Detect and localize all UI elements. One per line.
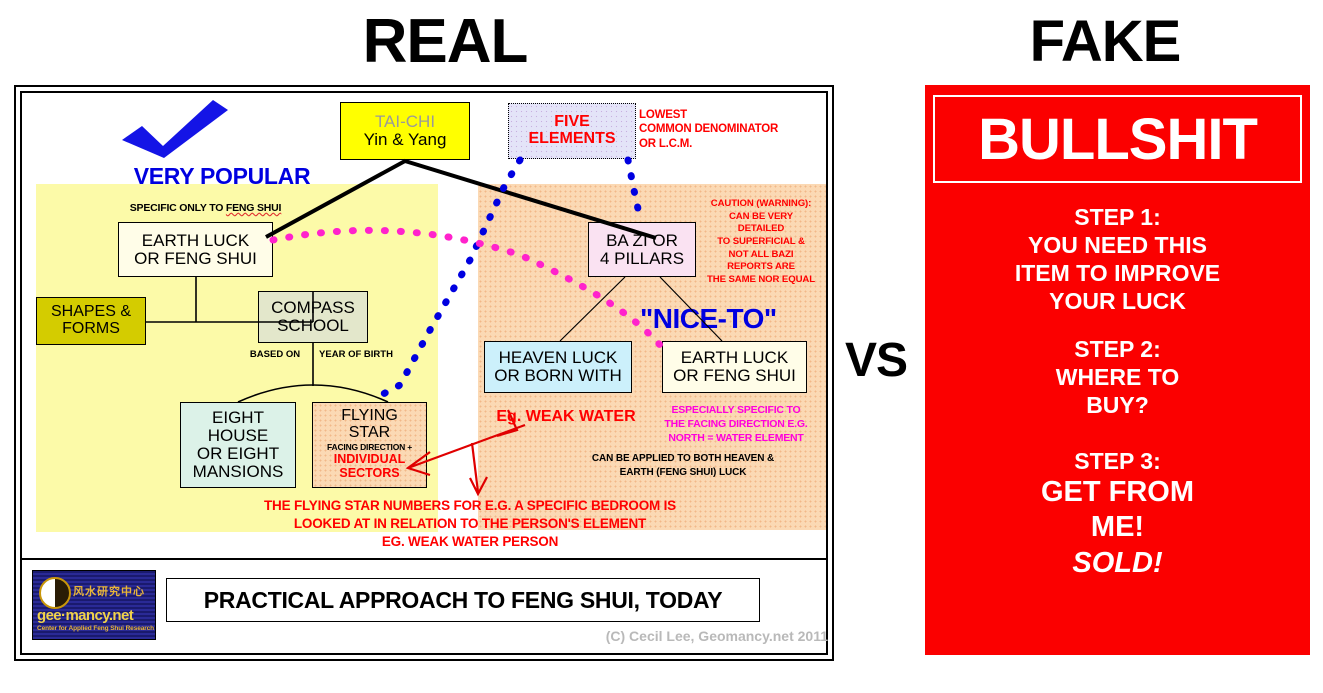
caution-line-0: CAUTION (WARNING): bbox=[700, 198, 822, 211]
bazi-line1: BA ZI OR bbox=[606, 232, 678, 250]
eight-house-line1: EIGHT bbox=[212, 409, 264, 427]
earth-luck-right-line1: EARTH LUCK bbox=[681, 349, 788, 367]
nice-to-label: "NICE-TO" bbox=[640, 303, 830, 335]
fsn-line-2: EG. WEAK WATER PERSON bbox=[120, 533, 820, 551]
weak-water-label: Eg. WEAK WATER bbox=[486, 408, 646, 426]
box-ba-zi: BA ZI OR 4 PILLARS bbox=[588, 222, 696, 277]
applied-line-0: CAN BE APPLIED TO BOTH HEAVEN & bbox=[554, 452, 812, 466]
poster-root: REAL FAKE bbox=[0, 0, 1323, 693]
plus-icon: + bbox=[407, 442, 412, 452]
especially-specific-note: ESPECIALLY SPECIFIC TO THE FACING DIRECT… bbox=[661, 403, 811, 446]
box-flying-star: FLYING STAR FACING DIRECTION + INDIVIDUA… bbox=[312, 402, 427, 488]
eight-house-line4: MANSIONS bbox=[193, 463, 284, 481]
lcm-line-0: LOWEST bbox=[639, 108, 814, 122]
five-elements-line1: FIVE bbox=[554, 114, 590, 131]
earth-luck-left-line1: EARTH LUCK bbox=[142, 232, 249, 250]
caution-note: CAUTION (WARNING): CAN BE VERY DETAILED … bbox=[700, 198, 822, 287]
box-earth-luck-left: EARTH LUCK OR FENG SHUI bbox=[118, 222, 273, 277]
heaven-luck-line1: HEAVEN LUCK bbox=[499, 349, 618, 367]
lcm-line-2: OR L.C.M. bbox=[639, 137, 814, 151]
shapes-line2: FORMS bbox=[62, 321, 120, 338]
bazi-line2: 4 PILLARS bbox=[600, 250, 684, 268]
five-elements-line2: ELEMENTS bbox=[528, 131, 615, 148]
compass-line2: SCHOOL bbox=[277, 317, 349, 335]
specific-only-suffix: FENG SHUI bbox=[226, 202, 281, 214]
flying-star-line1: FLYING bbox=[341, 408, 398, 425]
box-heaven-luck: HEAVEN LUCK OR BORN WITH bbox=[484, 341, 632, 393]
eight-house-line2: HOUSE bbox=[208, 427, 268, 445]
shapes-line1: SHAPES & bbox=[51, 304, 131, 321]
check-icon bbox=[118, 98, 233, 160]
caution-line-3: TO SUPERFICIAL & bbox=[700, 236, 822, 249]
flying-star-red1: INDIVIDUAL bbox=[334, 453, 406, 467]
box-eight-house: EIGHT HOUSE OR EIGHT MANSIONS bbox=[180, 402, 296, 488]
flying-star-line2: STAR bbox=[349, 425, 390, 442]
specific-only-prefix: SPECIFIC ONLY TO bbox=[130, 202, 226, 214]
lcm-line-1: COMMON DENOMINATOR bbox=[639, 122, 814, 136]
esp-line-2: NORTH = WATER ELEMENT bbox=[661, 431, 811, 445]
flying-star-note: THE FLYING STAR NUMBERS FOR E.G. A SPECI… bbox=[120, 497, 820, 550]
tai-chi-line2: Yin & Yang bbox=[364, 131, 447, 149]
fsn-line-0: THE FLYING STAR NUMBERS FOR E.G. A SPECI… bbox=[120, 497, 820, 515]
caution-line-4: NOT ALL BAZI bbox=[700, 249, 822, 262]
applied-line-1: EARTH (FENG SHUI) LUCK bbox=[554, 466, 812, 480]
based-on-caption: BASED ON bbox=[240, 349, 310, 360]
year-of-birth-caption: YEAR OF BIRTH bbox=[312, 349, 400, 360]
box-five-elements: FIVE ELEMENTS bbox=[508, 103, 636, 159]
box-shapes-forms: SHAPES & FORMS bbox=[36, 297, 146, 345]
heaven-luck-line2: OR BORN WITH bbox=[494, 367, 622, 385]
vs-label: VS bbox=[836, 333, 916, 388]
tai-chi-line1: TAI-CHI bbox=[375, 113, 435, 131]
caution-line-6: THE SAME NOR EQUAL bbox=[700, 274, 822, 287]
specific-only-caption: SPECIFIC ONLY TO FENG SHUI bbox=[118, 202, 293, 214]
esp-line-0: ESPECIALLY SPECIFIC TO bbox=[661, 403, 811, 417]
very-popular-label: VERY POPULAR bbox=[112, 163, 332, 190]
box-compass-school: COMPASS SCHOOL bbox=[258, 291, 368, 343]
earth-luck-right-line2: OR FENG SHUI bbox=[673, 367, 796, 385]
caution-line-5: REPORTS ARE bbox=[700, 261, 822, 274]
box-tai-chi: TAI-CHI Yin & Yang bbox=[340, 102, 470, 160]
eight-house-line3: OR EIGHT bbox=[197, 445, 279, 463]
box-earth-luck-right: EARTH LUCK OR FENG SHUI bbox=[662, 341, 807, 393]
caution-line-2: DETAILED bbox=[700, 223, 822, 236]
earth-luck-left-line2: OR FENG SHUI bbox=[134, 250, 257, 268]
flying-star-sub: FACING DIRECTION bbox=[327, 442, 405, 452]
caution-line-1: CAN BE VERY bbox=[700, 211, 822, 224]
fsn-line-1: LOOKED AT IN RELATION TO THE PERSON'S EL… bbox=[120, 515, 820, 533]
lcm-note: LOWEST COMMON DENOMINATOR OR L.C.M. bbox=[639, 108, 814, 151]
flying-star-red2: SECTORS bbox=[339, 467, 399, 481]
compass-line1: COMPASS bbox=[271, 299, 355, 317]
applied-both-note: CAN BE APPLIED TO BOTH HEAVEN & EARTH (F… bbox=[554, 452, 812, 479]
esp-line-1: THE FACING DIRECTION E.G. bbox=[661, 417, 811, 431]
